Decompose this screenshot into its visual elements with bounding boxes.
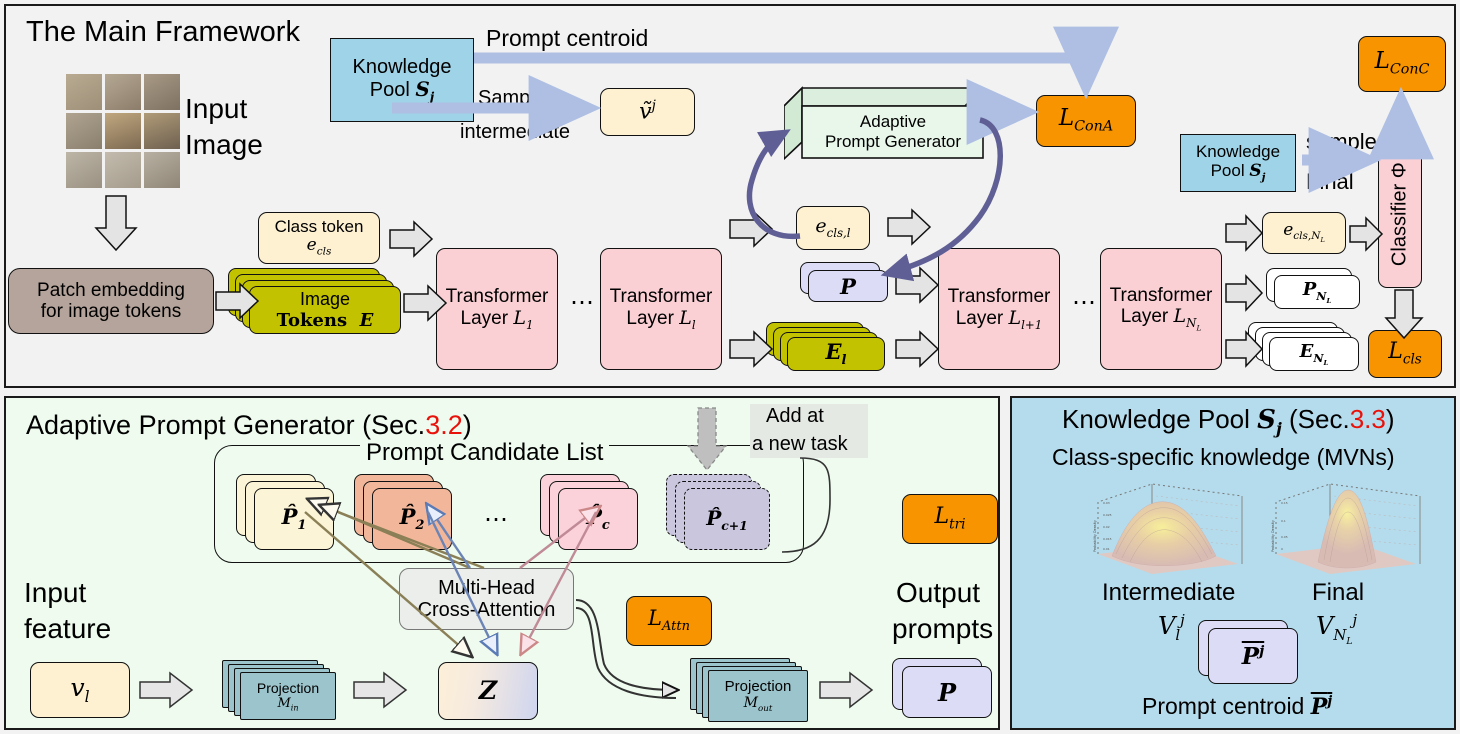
panel-kp-title: Knowledge Pool Sj (Sec.3.3) (1062, 404, 1395, 438)
knowledge-pool-top: Knowledge Pool Sj (330, 38, 474, 122)
input-image-grid (66, 74, 180, 188)
transformer-l1-line1: Transformer (948, 286, 1051, 307)
loss-attn-box: LAttn (626, 596, 712, 646)
knowledge-pool-top-line2: Pool Sj (370, 78, 435, 104)
svg-text:0.01: 0.01 (1103, 547, 1110, 551)
patch-embedding-box: Patch embedding for image tokens (8, 268, 214, 334)
panel-kp-title-num: 3.3 (1350, 404, 1386, 434)
loss-tri-symbol: Ltri (935, 505, 966, 533)
panel-apg-title: Adaptive Prompt Generator (Sec.3.2) (26, 410, 472, 441)
transformer-1-line2: Layer L1 (461, 308, 534, 332)
patch-embedding-line1: Patch embedding (37, 280, 185, 301)
kp-vnl-symbol: VNLj (1316, 612, 1357, 647)
loss-cona-box: LConA (1036, 95, 1136, 147)
ecls-nl-box: ecls,NL (1262, 212, 1346, 254)
panel-kp-title-a: Knowledge Pool (1062, 404, 1250, 434)
output-prompts-line1: Output (896, 578, 980, 608)
adaptive-prompt-generator-box: Adaptive Prompt Generator (784, 86, 984, 160)
apg-box-line2: Prompt Generator (825, 132, 961, 152)
svg-text:0: 0 (1281, 547, 1283, 551)
knowledge-pool-top-line1: Knowledge (353, 56, 452, 78)
knowledge-pool-right: Knowledge Pool Sj (1180, 134, 1296, 192)
svg-text:0.015: 0.015 (1103, 537, 1112, 541)
knowledge-pool-right-line1: Knowledge (1196, 142, 1280, 161)
ecls-nl-symbol: ecls,NL (1283, 221, 1325, 245)
panel-kp-title-b: (Sec. (1282, 404, 1350, 434)
svg-text:0.02: 0.02 (1103, 525, 1110, 529)
loss-tri-box: Ltri (902, 494, 998, 544)
p1-stack: P̂1 (236, 474, 356, 556)
svg-text:0.1: 0.1 (1281, 519, 1286, 523)
loss-conc-symbol: LConC (1375, 49, 1430, 79)
e-nl-stack: ENL (1248, 322, 1368, 378)
panel-kp-title-c: ) (1386, 404, 1395, 434)
output-prompts-line2: prompts (892, 614, 993, 644)
svg-text:0.05: 0.05 (1281, 535, 1288, 539)
projection-out-line1: Projection (725, 678, 792, 695)
image-tokens-line2: Tokens E (277, 310, 374, 331)
p-nl-symbol: PNL (1303, 279, 1332, 305)
p2-stack: P̂2 (354, 474, 474, 556)
output-p-stack: P (892, 658, 1012, 724)
input-feature-line2: feature (24, 614, 111, 644)
transformer-l-line2: Layer Ll (626, 308, 695, 332)
svg-text:0.15: 0.15 (1281, 501, 1288, 505)
ellipsis-2: ⋯ (1072, 288, 1098, 317)
classifier-label: Classifier Φ (1389, 162, 1411, 266)
prompt-candidate-list-label: Prompt Candidate List (360, 440, 609, 466)
kp-pbar-symbol: Pj (1242, 643, 1264, 670)
p2-symbol: P̂2 (400, 504, 425, 533)
prompt-centroid-label: Prompt centroid (486, 26, 648, 51)
sample-final-label-1: sample (1306, 130, 1377, 154)
vl-symbol: vl (70, 674, 89, 706)
pc-symbol: P̂c (586, 504, 610, 533)
ecls-l-symbol: ecls,l (815, 216, 850, 240)
kp-intermediate-label: Intermediate (1102, 580, 1235, 606)
sample-final-label-2: Final (1306, 170, 1354, 194)
vl-box: vl (30, 662, 130, 718)
pc1-stack: P̂c+1 (666, 474, 796, 556)
kp-vl-symbol: Vlj (1158, 612, 1185, 643)
loss-cls-symbol: Lcls (1388, 340, 1422, 368)
loss-cls-box: Lcls (1368, 330, 1442, 378)
prompt-p-stack: P (800, 262, 900, 308)
svg-text:0.03: 0.03 (1103, 501, 1110, 505)
projection-in-stack: Projection Min (222, 660, 346, 722)
patch-embedding-line2: for image tokens (41, 301, 181, 322)
image-tokens-stack: Image Tokens E (228, 268, 402, 336)
transformer-layer-l: Transformer Layer Ll (600, 248, 722, 370)
svg-text:Probability Density: Probability Density (1271, 520, 1275, 552)
v-tilde-box: ṽj (600, 88, 695, 136)
pc1-symbol: P̂c+1 (706, 506, 748, 533)
projection-out-line2: Mout (744, 695, 773, 714)
mvn-plot-final: Probability Density 0.150.10.050 (1268, 478, 1428, 588)
loss-attn-symbol: LAttn (648, 607, 690, 635)
loss-cona-symbol: LConA (1059, 106, 1113, 136)
sample-label-2: intermediate (460, 122, 570, 144)
class-token-symbol: ecls (307, 236, 332, 258)
image-tokens-line1: Image (300, 289, 350, 310)
transformer-l-line1: Transformer (610, 286, 713, 307)
classifier-box: Classifier Φ (1378, 140, 1422, 288)
v-tilde-symbol: ṽj (639, 99, 656, 125)
mvn-plot-intermediate: Probability Density 0.030.0250.02 0.0150… (1090, 478, 1250, 588)
panel-main-framework (4, 4, 1456, 388)
transformer-nl-line1: Transformer (1110, 285, 1213, 306)
candidate-ellipsis: ⋯ (484, 505, 510, 534)
mhca-line2: Cross-Attention (418, 599, 556, 621)
transformer-l1-line2: Layer Ll+1 (956, 308, 1043, 332)
projection-in-line2: Min (277, 696, 298, 713)
prompt-p-symbol: P (840, 274, 856, 299)
loss-conc-box: LConC (1358, 36, 1446, 92)
ellipsis-1: ⋯ (570, 288, 596, 317)
tokens-el-stack: El (766, 322, 896, 378)
input-image-label-2: Image (185, 130, 263, 160)
figure-root: The Main Framework Input Image Patch emb… (0, 0, 1460, 734)
transformer-1-line1: Transformer (446, 286, 549, 307)
knowledge-pool-right-line2: Pool Sj (1211, 161, 1266, 184)
kp-centroid-label: Prompt centroid Pj (1142, 694, 1332, 720)
class-token-label: Class token (275, 217, 364, 236)
sample-label-1: Sample (478, 88, 546, 110)
add-new-task-line1: Add at (766, 406, 824, 428)
panel-apg-title-num: 3.2 (425, 410, 463, 440)
input-image-label-1: Input (185, 94, 247, 124)
pc-stack: P̂c (540, 474, 660, 556)
panel-apg-title-b: ) (463, 410, 472, 440)
e-nl-symbol: ENL (1300, 341, 1329, 367)
tokens-el-symbol: El (826, 339, 847, 368)
panel-apg-title-a: Adaptive Prompt Generator (Sec. (26, 410, 425, 440)
svg-text:Probability Density: Probability Density (1093, 520, 1097, 552)
class-token-box: Class token ecls (258, 212, 380, 264)
kp-centroid-text: Prompt centroid (1142, 693, 1304, 719)
projection-in-line1: Projection (257, 680, 319, 696)
transformer-layer-l-plus-1: Transformer Layer Ll+1 (938, 248, 1060, 370)
input-feature-line1: Input (24, 578, 86, 608)
p-nl-stack: PNL (1266, 268, 1376, 314)
ecls-l-box: ecls,l (796, 206, 870, 250)
transformer-layer-1: Transformer Layer L1 (436, 248, 558, 370)
kp-pbar-stack: Pj (1198, 620, 1318, 690)
multi-head-cross-attention-box: Multi-Head Cross-Attention (399, 568, 574, 630)
z-symbol: Z (479, 677, 497, 705)
panel-main-title: The Main Framework (26, 16, 300, 49)
transformer-layer-nl: Transformer Layer LNL (1100, 248, 1222, 370)
output-p-symbol: P (938, 678, 956, 707)
transformer-nl-line2: Layer LNL (1121, 306, 1202, 332)
z-box: Z (438, 662, 538, 720)
projection-out-stack: Projection Mout (690, 658, 820, 724)
kp-final-label: Final (1312, 580, 1364, 606)
panel-kp-subtitle: Class-specific knowledge (MVNs) (1052, 444, 1395, 471)
p1-symbol: P̂1 (282, 504, 307, 533)
svg-text:0.025: 0.025 (1103, 513, 1112, 517)
apg-box-line1: Adaptive (860, 112, 926, 132)
mhca-line1: Multi-Head (438, 577, 535, 599)
add-new-task-line2: a new task (752, 434, 848, 456)
